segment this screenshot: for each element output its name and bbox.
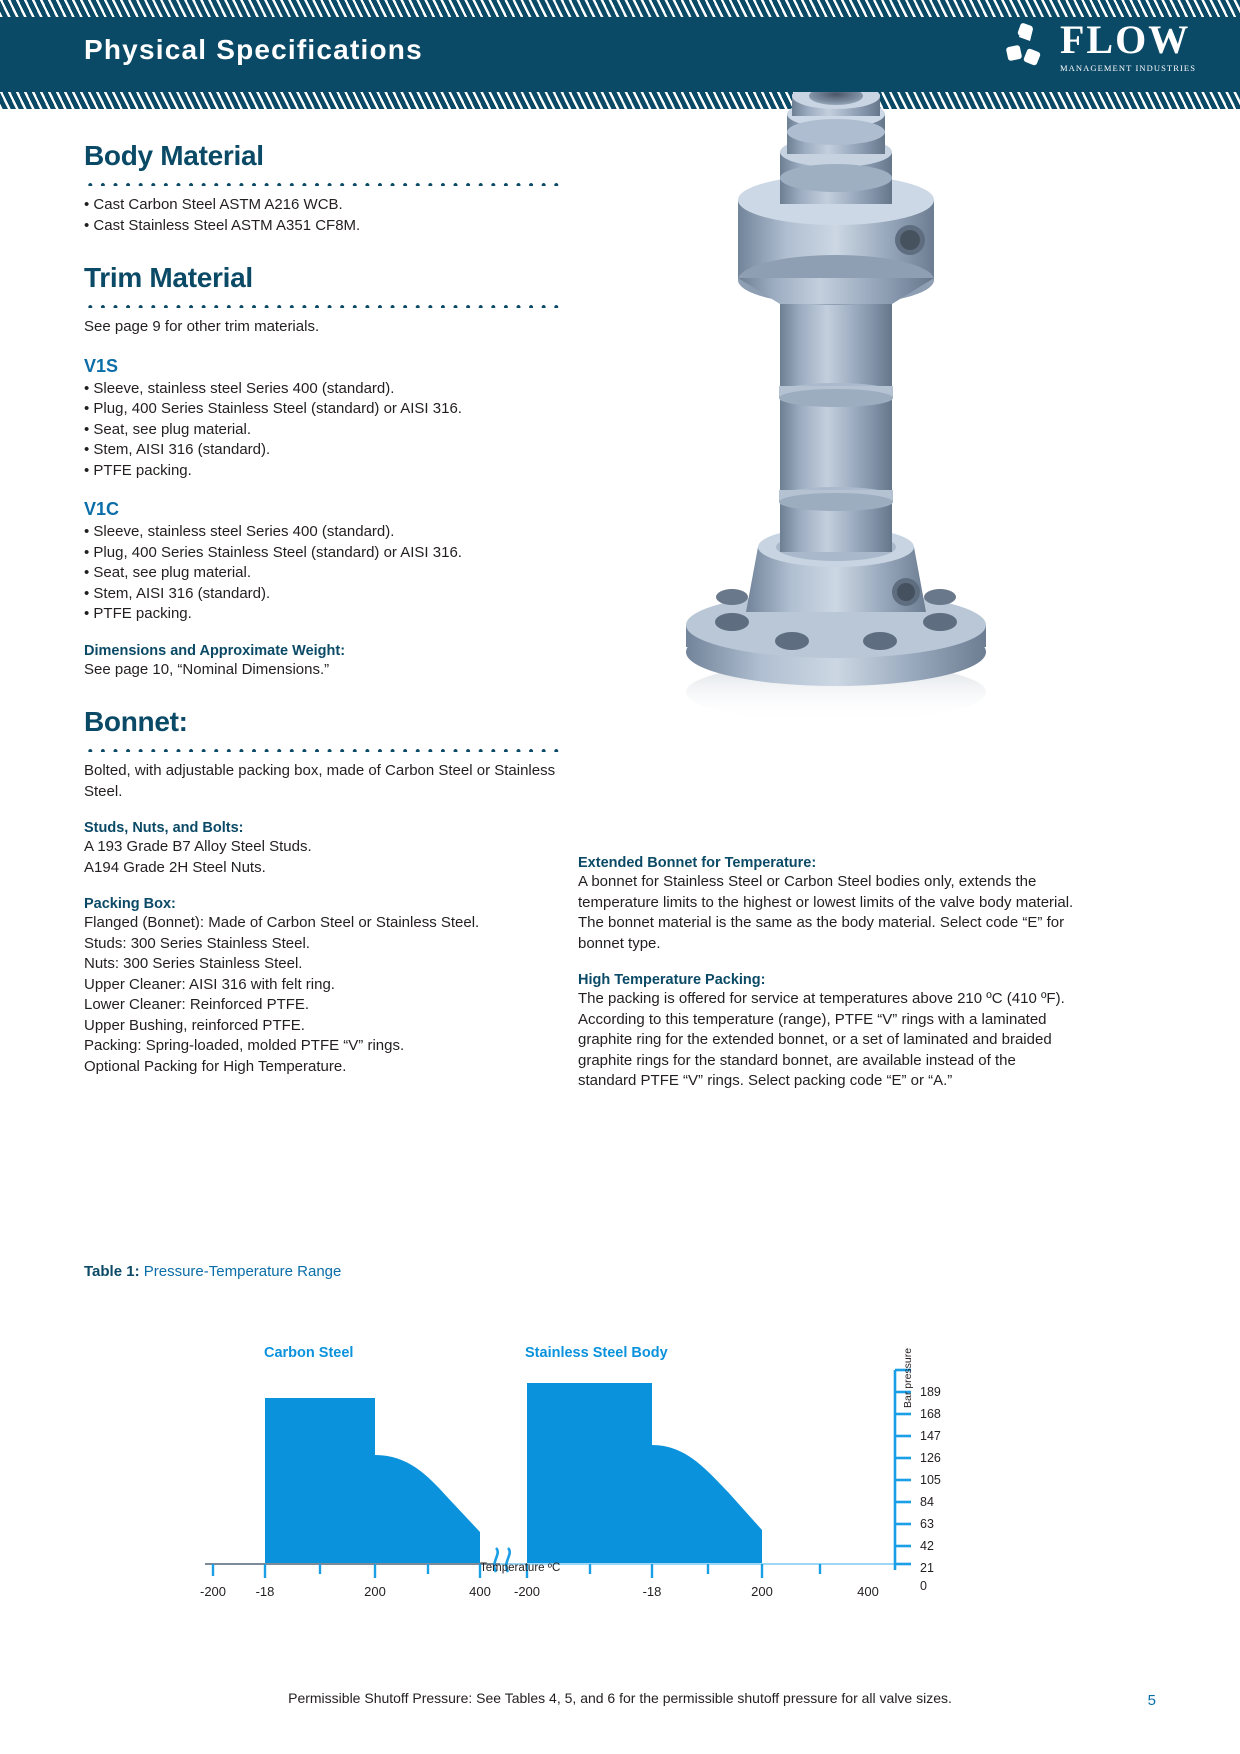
x-tick-label: -200 (183, 1584, 243, 1599)
list-item: Sleeve, stainless steel Series 400 (stan… (84, 522, 584, 543)
x-tick-label: -18 (622, 1584, 682, 1599)
table1-label: Table 1: (84, 1263, 140, 1280)
y-tick-label: 0 (920, 1579, 927, 1593)
packing-line: Upper Bushing, reinforced PTFE. (84, 1016, 584, 1037)
trim-group-v1c-list: Sleeve, stainless steel Series 400 (stan… (84, 522, 584, 625)
table1-caption: Table 1: Pressure-Temperature Range (84, 1263, 341, 1280)
y-tick-label: 168 (920, 1407, 941, 1421)
studs-nuts-bolts-label: Studs, Nuts, and Bolts: (84, 820, 584, 836)
extended-bonnet-text: A bonnet for Stainless Steel or Carbon S… (578, 872, 1078, 954)
list-item: PTFE packing. (84, 604, 584, 625)
dotted-rule (84, 302, 564, 308)
hatch-stripe-top (0, 0, 1240, 17)
y-tick-label: 42 (920, 1539, 934, 1553)
body-material-heading: Body Material (84, 140, 584, 172)
carbon-steel-area (265, 1398, 480, 1564)
stainless-steel-area (527, 1383, 762, 1564)
studs-line-2: A194 Grade 2H Steel Nuts. (84, 858, 584, 879)
y-tick-label: 147 (920, 1429, 941, 1443)
packing-line: Upper Cleaner: AISI 316 with felt ring. (84, 975, 584, 996)
y-tick-label: 21 (920, 1561, 934, 1575)
x-tick-label: 400 (838, 1584, 898, 1599)
dotted-rule (84, 746, 564, 752)
list-item: PTFE packing. (84, 461, 584, 482)
list-item: Sleeve, stainless steel Series 400 (stan… (84, 379, 584, 400)
x-tick-label: -18 (235, 1584, 295, 1599)
brand-wordmark: FLOW MANAGEMENT INDUSTRIES (1060, 18, 1196, 73)
list-item: Seat, see plug material. (84, 420, 584, 441)
high-temp-packing-label: High Temperature Packing: (578, 972, 1078, 988)
right-content-column: Extended Bonnet for Temperature: A bonne… (578, 855, 1078, 1092)
trim-material-intro: See page 9 for other trim materials. (84, 317, 584, 338)
chart-panel-title-stainless-steel: Stainless Steel Body (525, 1345, 668, 1361)
table1-title: Pressure-Temperature Range (144, 1263, 342, 1280)
valve-product-photo (640, 92, 1040, 732)
y-tick-label: 63 (920, 1517, 934, 1531)
brand-logo: FLOW MANAGEMENT INDUSTRIES (1002, 20, 1212, 78)
packing-line: Flanged (Bonnet): Made of Carbon Steel o… (84, 913, 584, 934)
pressure-temperature-chart: Carbon Steel Stainless Steel Body 189 16… (180, 1300, 1080, 1630)
shutoff-pressure-note: Permissible Shutoff Pressure: See Tables… (0, 1690, 1240, 1706)
hatch-stripe-bottom (0, 92, 1240, 109)
y-tick-label: 126 (920, 1451, 941, 1465)
trim-group-v1c-heading: V1C (84, 499, 584, 520)
y-tick-label: 189 (920, 1385, 941, 1399)
packing-line: Lower Cleaner: Reinforced PTFE. (84, 995, 584, 1016)
x-tick-label: 200 (732, 1584, 792, 1599)
packing-line: Nuts: 300 Series Stainless Steel. (84, 954, 584, 975)
brand-tagline: MANAGEMENT INDUSTRIES (1060, 63, 1196, 73)
body-material-list: Cast Carbon Steel ASTM A216 WCB. Cast St… (84, 195, 584, 236)
list-item: Seat, see plug material. (84, 563, 584, 584)
x-axis-label: Temperature ºC (480, 1562, 560, 1574)
packing-line: Studs: 300 Series Stainless Steel. (84, 934, 584, 955)
high-temp-packing-text: The packing is offered for service at te… (578, 989, 1078, 1092)
x-tick-label: -200 (497, 1584, 557, 1599)
list-item: Stem, AISI 316 (standard). (84, 584, 584, 605)
page-number: 5 (1148, 1692, 1156, 1709)
document-page: Physical Specifications FLOW MANAGEMENT … (0, 0, 1240, 1754)
y-tick-label: 84 (920, 1495, 934, 1509)
trim-material-heading: Trim Material (84, 262, 584, 294)
bonnet-intro: Bolted, with adjustable packing box, mad… (84, 761, 584, 802)
studs-line-1: A 193 Grade B7 Alloy Steel Studs. (84, 837, 584, 858)
chart-panel-title-carbon-steel: Carbon Steel (264, 1345, 353, 1361)
list-item: Plug, 400 Series Stainless Steel (standa… (84, 399, 584, 420)
extended-bonnet-label: Extended Bonnet for Temperature: (578, 855, 1078, 871)
dotted-rule (84, 180, 564, 186)
y-axis-label: Bar pressure (902, 1348, 914, 1408)
x-tick-label: 200 (345, 1584, 405, 1599)
brand-name: FLOW (1060, 18, 1196, 62)
left-content-column: Body Material Cast Carbon Steel ASTM A21… (84, 140, 584, 1077)
dimensions-label: Dimensions and Approximate Weight: (84, 643, 584, 659)
page-header: Physical Specifications FLOW MANAGEMENT … (0, 0, 1240, 92)
list-item: Stem, AISI 316 (standard). (84, 440, 584, 461)
trim-group-v1s-heading: V1S (84, 356, 584, 377)
flow-cubes-icon (1002, 22, 1054, 74)
bonnet-heading: Bonnet: (84, 706, 584, 738)
list-item: Cast Stainless Steel ASTM A351 CF8M. (84, 216, 584, 237)
packing-line: Optional Packing for High Temperature. (84, 1057, 584, 1078)
y-tick-label: 105 (920, 1473, 941, 1487)
trim-group-v1s-list: Sleeve, stainless steel Series 400 (stan… (84, 379, 584, 482)
list-item: Cast Carbon Steel ASTM A216 WCB. (84, 195, 584, 216)
dimensions-text: See page 10, “Nominal Dimensions.” (84, 660, 584, 681)
packing-line: Packing: Spring-loaded, molded PTFE “V” … (84, 1036, 584, 1057)
list-item: Plug, 400 Series Stainless Steel (standa… (84, 543, 584, 564)
packing-box-label: Packing Box: (84, 896, 584, 912)
page-title: Physical Specifications (84, 34, 423, 66)
